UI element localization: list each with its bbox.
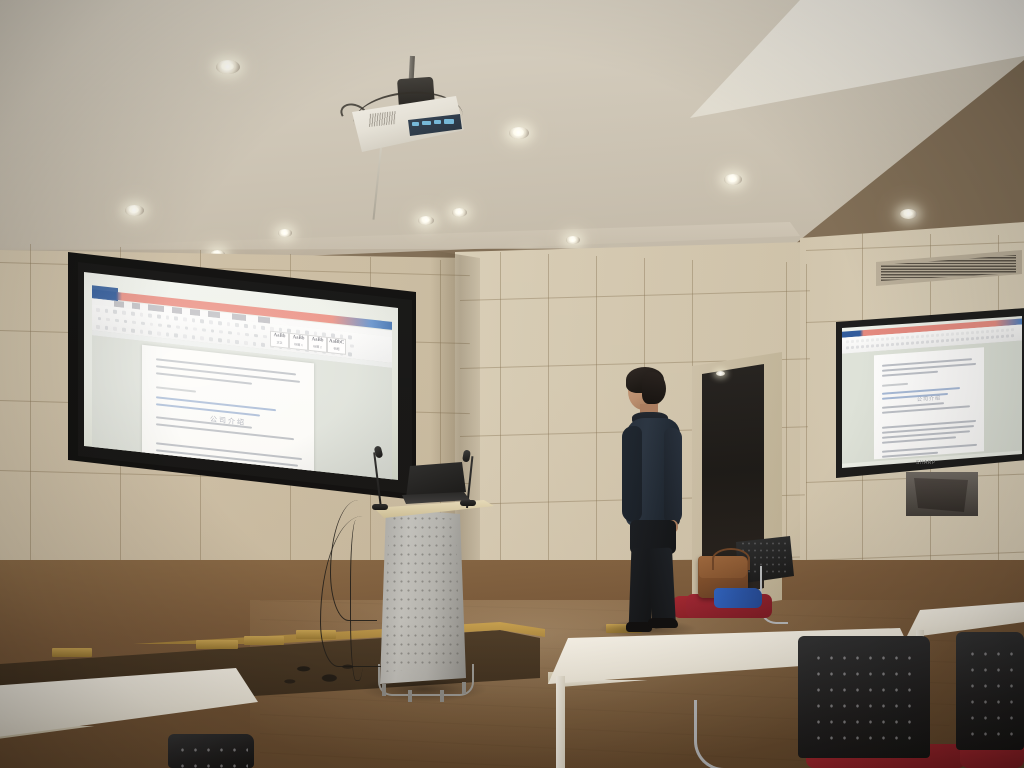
lectern-foot: [440, 690, 444, 702]
tv-word-ribbon-command-icon: [856, 339, 859, 342]
ceiling-downlight: [724, 174, 742, 185]
word-ribbon-command-icon: [227, 322, 231, 326]
word-ribbon-command-icon: [253, 342, 257, 346]
word-ribbon-command-icon: [166, 315, 170, 319]
tv-word-ribbon-command-icon: [866, 339, 869, 342]
tv-word-ribbon-command-icon: [971, 337, 974, 340]
tv-word-ribbon-command-icon: [876, 338, 879, 341]
word-ribbon-command-icon: [105, 309, 109, 313]
ceiling-downlight: [566, 236, 580, 244]
word-ribbon-command-icon: [131, 312, 135, 316]
tv-word-ribbon-command-icon: [916, 341, 919, 344]
document-text-line: [882, 383, 908, 387]
presenter-right-leg: [648, 547, 676, 628]
word-ribbon-command-icon: [113, 310, 117, 314]
document-text-line: [882, 387, 960, 395]
table-center-leg-left: [556, 676, 565, 768]
tv-word-ribbon-command-icon: [966, 337, 969, 340]
word-ribbon-command-icon: [157, 314, 161, 318]
word-document-heading: 公司介绍: [210, 414, 246, 428]
tv-word-ribbon-command-icon: [941, 339, 944, 342]
tv-word-ribbon-command-icon: [926, 340, 929, 343]
tv-word-ribbon-command-icon: [901, 342, 904, 345]
tv-word-ribbon-command-icon: [871, 344, 874, 347]
word-style-preview-caption: 标题 1: [290, 342, 307, 348]
tv-word-ribbon-command-icon: [931, 334, 934, 337]
floor-outlet-box: [196, 640, 238, 649]
tv-word-ribbon-command-icon: [946, 333, 949, 336]
word-style-preview: AaBbC标题: [327, 337, 346, 355]
word-ribbon-command-icon: [192, 336, 196, 340]
blue-cloth: [714, 588, 762, 608]
tv-word-ribbon-command-icon: [921, 341, 924, 344]
word-ribbon-command-icon: [140, 312, 144, 316]
cable-bundle: [276, 652, 368, 694]
tv-word-ribbon-command-icon: [876, 344, 879, 347]
microphone-base-right: [460, 500, 476, 506]
tv-word-ribbon-command-icon: [956, 332, 959, 335]
tv-word-ribbon-command-icon: [881, 338, 884, 341]
word-ribbon-command-icon: [96, 308, 100, 312]
tv-word-ribbon-command-icon: [966, 331, 969, 334]
presenter: [612, 370, 696, 634]
ceiling-downlight: [900, 209, 917, 219]
tv-word-ribbon-command-icon: [956, 338, 959, 341]
word-style-preview-caption: 正文: [271, 340, 288, 346]
word-ribbon-command-icon: [192, 318, 196, 322]
tv-word-ribbon-command-icon: [901, 336, 904, 339]
tv-word-ribbon-command-icon: [891, 337, 894, 340]
word-ribbon-command-icon: [96, 325, 100, 329]
tv-word-ribbon-command-icon: [886, 337, 889, 340]
tv-word-ribbon-command-icon: [896, 343, 899, 346]
tv-word-ribbon-command-icon: [1011, 328, 1014, 331]
tv-word-ribbon-command-icon: [851, 340, 854, 343]
ceiling-downlight: [125, 205, 144, 216]
tv-word-ribbon-command-icon: [856, 345, 859, 348]
tv-word-ribbon-command-icon: [881, 344, 884, 347]
word-ribbon-command-icon: [209, 320, 213, 324]
word-ribbon-command-icon: [148, 331, 152, 335]
lectern-foot: [382, 684, 386, 696]
ceiling-downlight: [418, 216, 434, 225]
tv-word-ribbon-command-icon: [861, 339, 864, 342]
word-style-preview-caption: 标题 2: [309, 344, 326, 350]
word-ribbon-command-icon: [253, 325, 257, 329]
presenter-right-arm: [664, 428, 682, 524]
word-ribbon-command-icon: [166, 333, 170, 337]
word-ribbon-command-icon: [209, 337, 213, 341]
tv-word-ribbon-command-icon: [996, 329, 999, 332]
tv-word-ribbon-command-icon: [866, 345, 869, 348]
word-ribbon-command-icon: [348, 353, 352, 357]
tv-word-ribbon-command-icon: [946, 339, 949, 342]
lectern-foot: [462, 682, 466, 694]
word-ribbon-command-icon: [183, 335, 187, 339]
word-ribbon-command-icon: [105, 326, 109, 330]
tv-word-ribbon-command-icon: [906, 342, 909, 345]
tv-word-ribbon-command-icon: [906, 336, 909, 339]
tv-word-ribbon-command-icon: [981, 330, 984, 333]
word-ribbon-command-icon: [183, 317, 187, 321]
word-ribbon-command-icon: [174, 316, 178, 320]
tv-word-ribbon-command-icon: [941, 333, 944, 336]
tv-screen: 公司介绍: [838, 316, 1022, 468]
presenter-left-arm: [622, 426, 642, 522]
presenter-hair-back: [642, 372, 666, 404]
word-ribbon-command-icon: [200, 319, 204, 323]
word-ribbon-command-icon: [148, 313, 152, 317]
tv-word-ribbon-command-icon: [991, 330, 994, 333]
tv-word-ribbon-command-icon: [1006, 328, 1009, 331]
tv-word-ribbon-command-icon: [996, 335, 999, 338]
word-ribbon-command-icon: [348, 335, 352, 339]
tv-brand-label: SHARP: [916, 460, 936, 466]
word-ribbon-command-icon: [122, 328, 126, 332]
presenter-right-shoe: [648, 618, 678, 628]
chair-bottom-left-perforation: [176, 742, 248, 768]
leather-bag-strap: [712, 548, 750, 570]
word-style-preview: AaBb标题 1: [289, 333, 308, 351]
tv-word-ribbon-command-icon: [981, 336, 984, 339]
lectern-foot: [408, 690, 412, 702]
tv-word-ribbon-command-icon: [871, 338, 874, 341]
tv-word-ribbon-command-icon: [1001, 329, 1004, 332]
document-text-line: [156, 386, 196, 392]
word-ribbon-command-icon: [218, 338, 222, 342]
tv-word-document-page: 公司介绍: [874, 347, 984, 459]
word-ribbon-command-icon: [122, 311, 126, 315]
word-ribbon-command-icon: [174, 334, 178, 338]
ceiling-downlight: [509, 127, 529, 139]
document-text-line: [882, 371, 938, 377]
tv-word-ribbon-command-icon: [936, 340, 939, 343]
conference-room-photo: AaBb正文AaBb标题 1AaBb标题 2AaBbC标题 公司介绍: [0, 0, 1024, 768]
tv-word-ribbon-command-icon: [986, 336, 989, 339]
word-style-preview: AaBb正文: [270, 331, 289, 349]
tv-word-ribbon-command-icon: [851, 346, 854, 349]
tv-word-ribbon-command-icon: [846, 340, 849, 343]
tv-word-ribbon-command-icon: [971, 331, 974, 334]
ceiling-downlight: [216, 60, 240, 74]
tv-word-ribbon-command-icon: [926, 334, 929, 337]
tv-word-ribbon-command-icon: [1001, 335, 1004, 338]
chair-right-1-perforation: [812, 650, 916, 746]
word-ribbon-command-icon: [200, 336, 204, 340]
tv-word-ribbon-command-icon: [1006, 334, 1009, 337]
word-ribbon-command-icon: [244, 324, 248, 328]
lectern-perforation-pattern: [384, 514, 460, 672]
tv-word-ribbon-command-icon: [991, 336, 994, 339]
tv-word-ribbon-command-icon: [911, 341, 914, 344]
tv-word-ribbon-command-icon: [896, 337, 899, 340]
tv-word-ribbon-command-icon: [846, 346, 849, 349]
word-ribbon-command-icon: [235, 323, 239, 327]
corridor-downlight: [716, 371, 725, 376]
tv-word-ribbon-command-icon: [931, 340, 934, 343]
word-ribbon-command-icon: [261, 343, 265, 347]
word-ribbon-command-icon: [227, 339, 231, 343]
word-ribbon-command-icon: [131, 329, 135, 333]
tv-word-ribbon-command-icon: [961, 332, 964, 335]
tv-word-ribbon-command-icon: [951, 338, 954, 341]
word-style-preview: AaBb标题 2: [308, 335, 327, 353]
word-ribbon-command-icon: [140, 330, 144, 334]
tv-word-ribbon-command-icon: [951, 332, 954, 335]
word-ribbon-command-icon: [261, 326, 265, 330]
tv-mirrored-word-window: 公司介绍: [838, 316, 1022, 468]
chair-right-2-perforation: [966, 646, 1020, 738]
tv-word-ribbon-command-icon: [961, 338, 964, 341]
tv-word-ribbon-command-icon: [976, 337, 979, 340]
tv-word-ribbon-command-icon: [911, 335, 914, 338]
tv-word-ribbon-command-icon: [976, 331, 979, 334]
word-ribbon-command-icon: [218, 321, 222, 325]
floor-outlet-box: [52, 648, 92, 657]
tv-word-ribbon-command-icon: [916, 335, 919, 338]
tv-mount-bracket: [912, 478, 970, 512]
ceiling-downlight: [278, 229, 292, 237]
tv-word-ribbon-command-icon: [921, 335, 924, 338]
word-ribbon-command-icon: [157, 332, 161, 336]
word-ribbon-command-icon: [113, 327, 117, 331]
floor-outlet-box: [244, 636, 284, 645]
chair-right-1-chrome-frame: [694, 700, 757, 768]
tv-word-ribbon-command-icon: [1011, 334, 1014, 337]
ceiling-downlight: [452, 208, 467, 217]
lectern-foot-rail: [378, 664, 474, 696]
tv-word-ribbon-command-icon: [986, 330, 989, 333]
tv-word-ribbon-command-icon: [891, 343, 894, 346]
tv-word-ribbon-command-icon: [886, 343, 889, 346]
tv-word-ribbon-command-icon: [936, 334, 939, 337]
word-ribbon-command-icon: [244, 341, 248, 345]
tv-word-ribbon-command-icon: [861, 345, 864, 348]
word-ribbon-command-icon: [235, 340, 239, 344]
